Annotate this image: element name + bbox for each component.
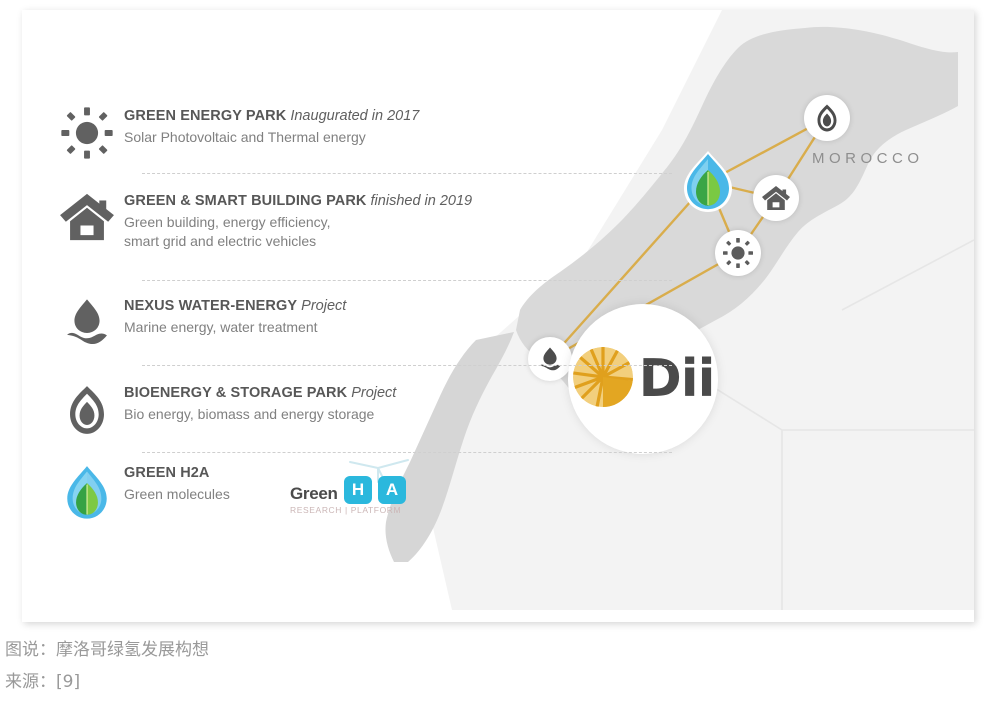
legend-description: Bio energy, biomass and energy storage	[124, 405, 570, 424]
green-droplet-leaf-icon	[61, 464, 113, 527]
legend-title-bold: GREEN & SMART BUILDING PARK	[124, 193, 367, 209]
map-marker-green-energy-park[interactable]	[715, 230, 761, 276]
dii-wordmark: Dii	[639, 353, 715, 405]
legend-title: BIOENERGY & STORAGE PARK Project	[124, 384, 570, 402]
legend-title-bold: NEXUS WATER-ENERGY	[124, 298, 297, 314]
house-icon	[60, 192, 114, 247]
legend-icon-cell	[50, 462, 124, 527]
legend-text-cell: NEXUS WATER-ENERGY Project Marine energy…	[124, 295, 570, 337]
map-marker-bioenergy-storage-park[interactable]	[804, 95, 850, 141]
legend-text-cell: GREEN ENERGY PARK Inaugurated in 2017 So…	[124, 105, 570, 147]
legend-text-cell: GREEN & SMART BUILDING PARK finished in …	[124, 190, 570, 251]
legend-title-italic: finished in 2019	[371, 193, 473, 209]
water-drop-wave-icon	[63, 297, 111, 354]
legend-separator	[142, 280, 672, 281]
legend-icon-cell	[50, 382, 124, 441]
legend-title-bold: BIOENERGY & STORAGE PARK	[124, 385, 347, 401]
legend-panel: GREEN ENERGY PARK Inaugurated in 2017 So…	[22, 10, 582, 622]
flame-icon	[814, 104, 840, 132]
legend-separator	[142, 365, 672, 366]
legend-item-green-smart-building-park[interactable]: GREEN & SMART BUILDING PARK finished in …	[50, 190, 570, 251]
legend-title: NEXUS WATER-ENERGY Project	[124, 297, 570, 315]
legend-description: Marine energy, water treatment	[124, 318, 570, 337]
sun-icon	[723, 238, 753, 268]
legend-item-bioenergy-storage-park[interactable]: BIOENERGY & STORAGE PARK Project Bio ene…	[50, 382, 570, 441]
legend-title-bold: GREEN ENERGY PARK	[124, 108, 286, 124]
green-h2a-word: Green	[290, 484, 338, 504]
legend-title: GREEN ENERGY PARK Inaugurated in 2017	[124, 107, 570, 125]
legend-icon-cell	[50, 190, 124, 247]
figure-caption: 图说：摩洛哥绿氢发展构想 来源：[9]	[5, 634, 905, 699]
legend-title-italic: Project	[351, 385, 396, 401]
legend-text-cell: BIOENERGY & STORAGE PARK Project Bio ene…	[124, 382, 570, 424]
caption-line-title: 图说：摩洛哥绿氢发展构想	[5, 634, 905, 666]
legend-item-green-energy-park[interactable]: GREEN ENERGY PARK Inaugurated in 2017 So…	[50, 105, 570, 164]
legend-item-nexus-water-energy[interactable]: NEXUS WATER-ENERGY Project Marine energy…	[50, 295, 570, 354]
legend-title-italic: Inaugurated in 2017	[290, 108, 419, 124]
legend-description: Green building, energy efficiency, smart…	[124, 213, 570, 251]
map-marker-green-smart-building-park[interactable]	[753, 175, 799, 221]
figure-card: MOROCCO	[22, 10, 974, 622]
legend-separator	[142, 452, 672, 453]
map-country-label: MOROCCO	[812, 150, 924, 167]
legend-title-italic: Project	[301, 298, 346, 314]
green-h2a-subtitle: RESEARCH | PLATFORM	[290, 505, 401, 515]
legend-icon-cell	[50, 295, 124, 354]
green-h2a-box-a: A	[378, 476, 406, 504]
caption-line-source: 来源：[9]	[5, 666, 905, 698]
flame-icon	[64, 384, 110, 441]
legend-description: Solar Photovoltaic and Thermal energy	[124, 128, 570, 147]
map-marker-green-h2a[interactable]	[679, 150, 737, 214]
legend-separator	[142, 173, 672, 174]
green-droplet-leaf-icon	[679, 150, 737, 214]
green-h2a-platform-logo: Green H A RESEARCH | PLATFORM	[290, 462, 418, 518]
sun-icon	[61, 107, 113, 164]
legend-icon-cell	[50, 105, 124, 164]
page-root: MOROCCO	[0, 0, 997, 708]
green-h2a-box-h: H	[344, 476, 372, 504]
legend-title: GREEN & SMART BUILDING PARK finished in …	[124, 192, 570, 210]
dii-logo: Dii	[568, 304, 718, 454]
house-icon	[762, 185, 790, 211]
legend-title-bold: GREEN H2A	[124, 465, 210, 481]
